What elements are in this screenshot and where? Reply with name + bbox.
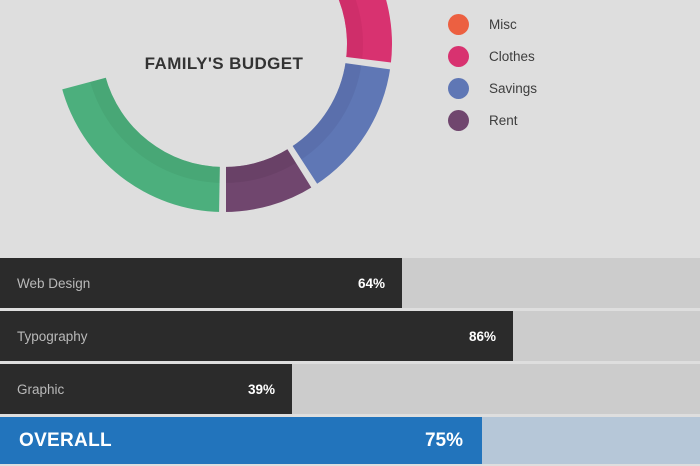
bar-label: OVERALL xyxy=(19,430,112,452)
infographic-root: FAMILY'S BUDGET Misc Clothes Savings Ren… xyxy=(0,0,700,466)
donut-chart xyxy=(56,0,392,212)
bar-label: Typography xyxy=(17,329,88,344)
donut-segment-shade xyxy=(272,0,363,61)
bar-value: 39% xyxy=(248,382,275,397)
bar-fill: Web Design 64% xyxy=(0,258,402,308)
legend-item-misc[interactable]: Misc xyxy=(448,8,668,40)
legend-item-clothes[interactable]: Clothes xyxy=(448,40,668,72)
donut-segment-savings[interactable] xyxy=(291,61,390,185)
legend-item-label: Misc xyxy=(489,17,517,32)
circle-swatch-icon xyxy=(448,78,469,99)
bar-label: Graphic xyxy=(17,382,64,397)
circle-swatch-icon xyxy=(448,14,469,35)
legend-item-label: Savings xyxy=(489,81,537,96)
skill-bars-panel: Web Design 64% Typography 86% Graphic 39… xyxy=(0,258,700,466)
bar-value: 64% xyxy=(358,276,385,291)
bar-row-overall[interactable]: OVERALL 75% xyxy=(0,417,700,464)
legend-item-savings[interactable]: Savings xyxy=(448,72,668,104)
legend-item-label: Clothes xyxy=(489,49,535,64)
legend-item-label: Rent xyxy=(489,113,518,128)
bar-fill: Graphic 39% xyxy=(0,364,292,414)
bar-label: Web Design xyxy=(17,276,90,291)
bar-value: 86% xyxy=(469,329,496,344)
donut-segment-divider xyxy=(221,165,222,212)
donut-chart-panel: FAMILY'S BUDGET Misc Clothes Savings Ren… xyxy=(0,0,700,258)
bar-fill: OVERALL 75% xyxy=(0,417,482,464)
bar-row-graphic[interactable]: Graphic 39% xyxy=(0,364,700,414)
donut-chart-title: FAMILY'S BUDGET xyxy=(56,54,392,74)
bar-fill: Typography 86% xyxy=(0,311,513,361)
circle-swatch-icon xyxy=(448,46,469,67)
bar-row-web-design[interactable]: Web Design 64% xyxy=(0,258,700,308)
legend-item-rent[interactable]: Rent xyxy=(448,104,668,136)
circle-swatch-icon xyxy=(448,110,469,131)
bar-row-typography[interactable]: Typography 86% xyxy=(0,311,700,361)
donut-chart-svg xyxy=(56,0,392,212)
bar-value: 75% xyxy=(425,430,463,452)
chart-legend: Misc Clothes Savings Rent xyxy=(448,8,668,136)
